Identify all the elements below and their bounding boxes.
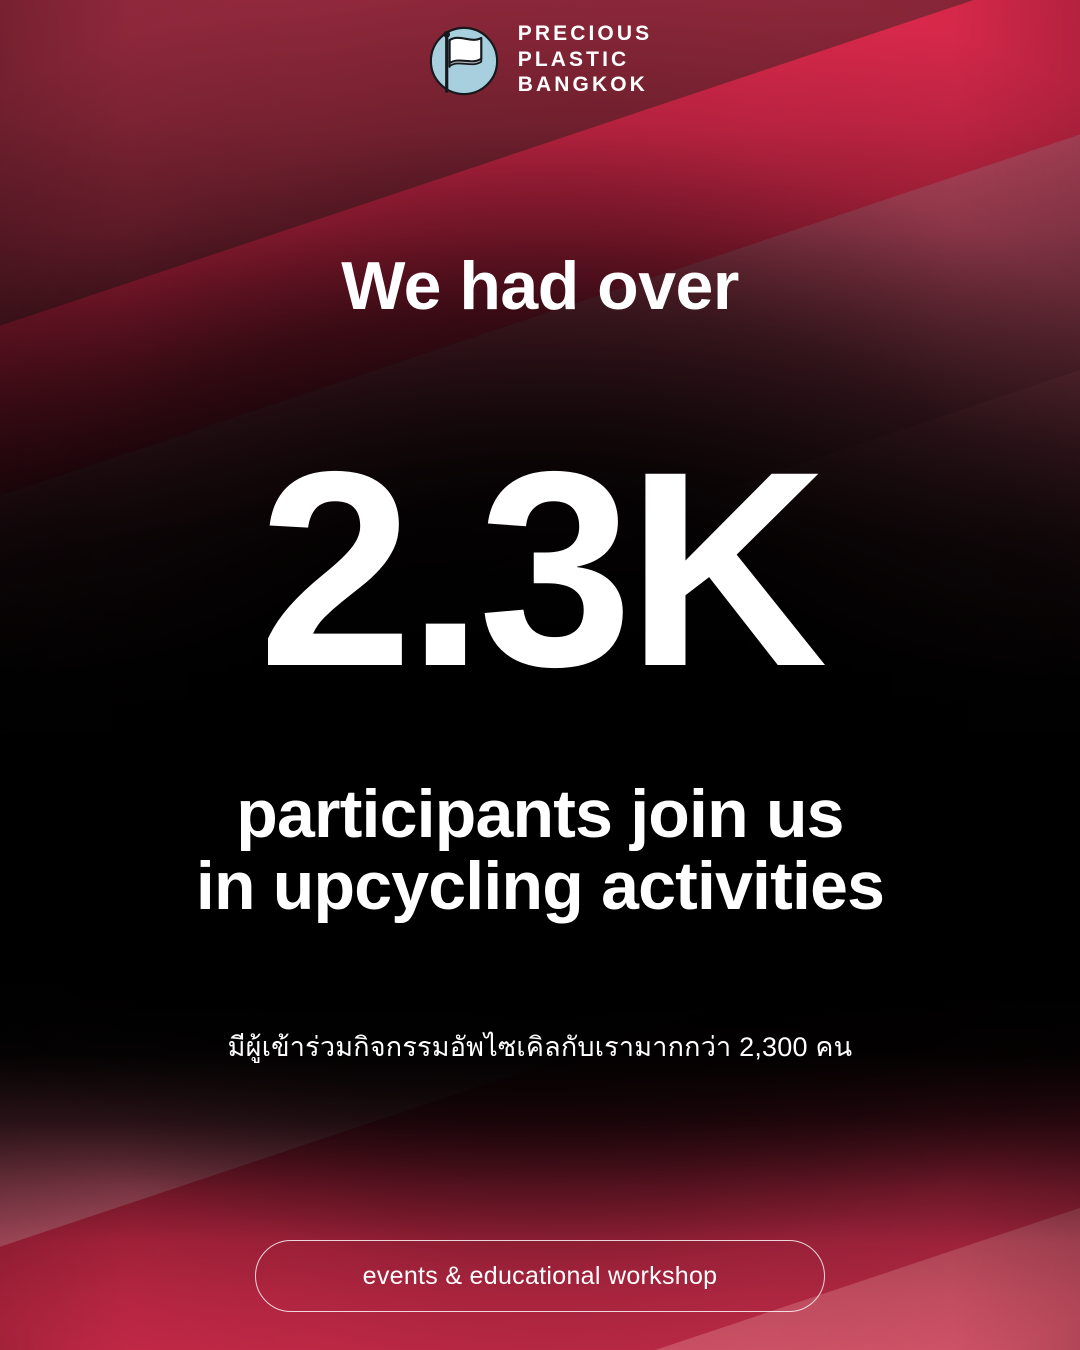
poster-canvas: PRECIOUS PLASTIC BANGKOK We had over 2.3… (0, 0, 1080, 1350)
headline: participants join us in upcycling activi… (0, 778, 1080, 922)
brand-logo: PRECIOUS PLASTIC BANGKOK (0, 22, 1080, 100)
brand-line-1: PRECIOUS (518, 22, 653, 47)
flag-in-circle-icon (428, 25, 500, 97)
footer-tag-container: events & educational workshop (0, 1240, 1080, 1312)
thai-caption: มีผู้เข้าร่วมกิจกรรมอัพไซเคิลกับเรามากกว… (0, 1030, 1080, 1065)
kicker-text: We had over (0, 252, 1080, 320)
headline-line-1: participants join us (0, 778, 1080, 850)
brand-line-2: PLASTIC (518, 48, 653, 73)
brand-line-3: BANGKOK (518, 73, 653, 98)
brand-wordmark: PRECIOUS PLASTIC BANGKOK (518, 22, 653, 100)
headline-line-2: in upcycling activities (0, 850, 1080, 922)
events-workshop-tag[interactable]: events & educational workshop (255, 1240, 825, 1312)
stat-value: 2.3K (0, 430, 1080, 708)
poster-content: PRECIOUS PLASTIC BANGKOK We had over 2.3… (0, 0, 1080, 1350)
